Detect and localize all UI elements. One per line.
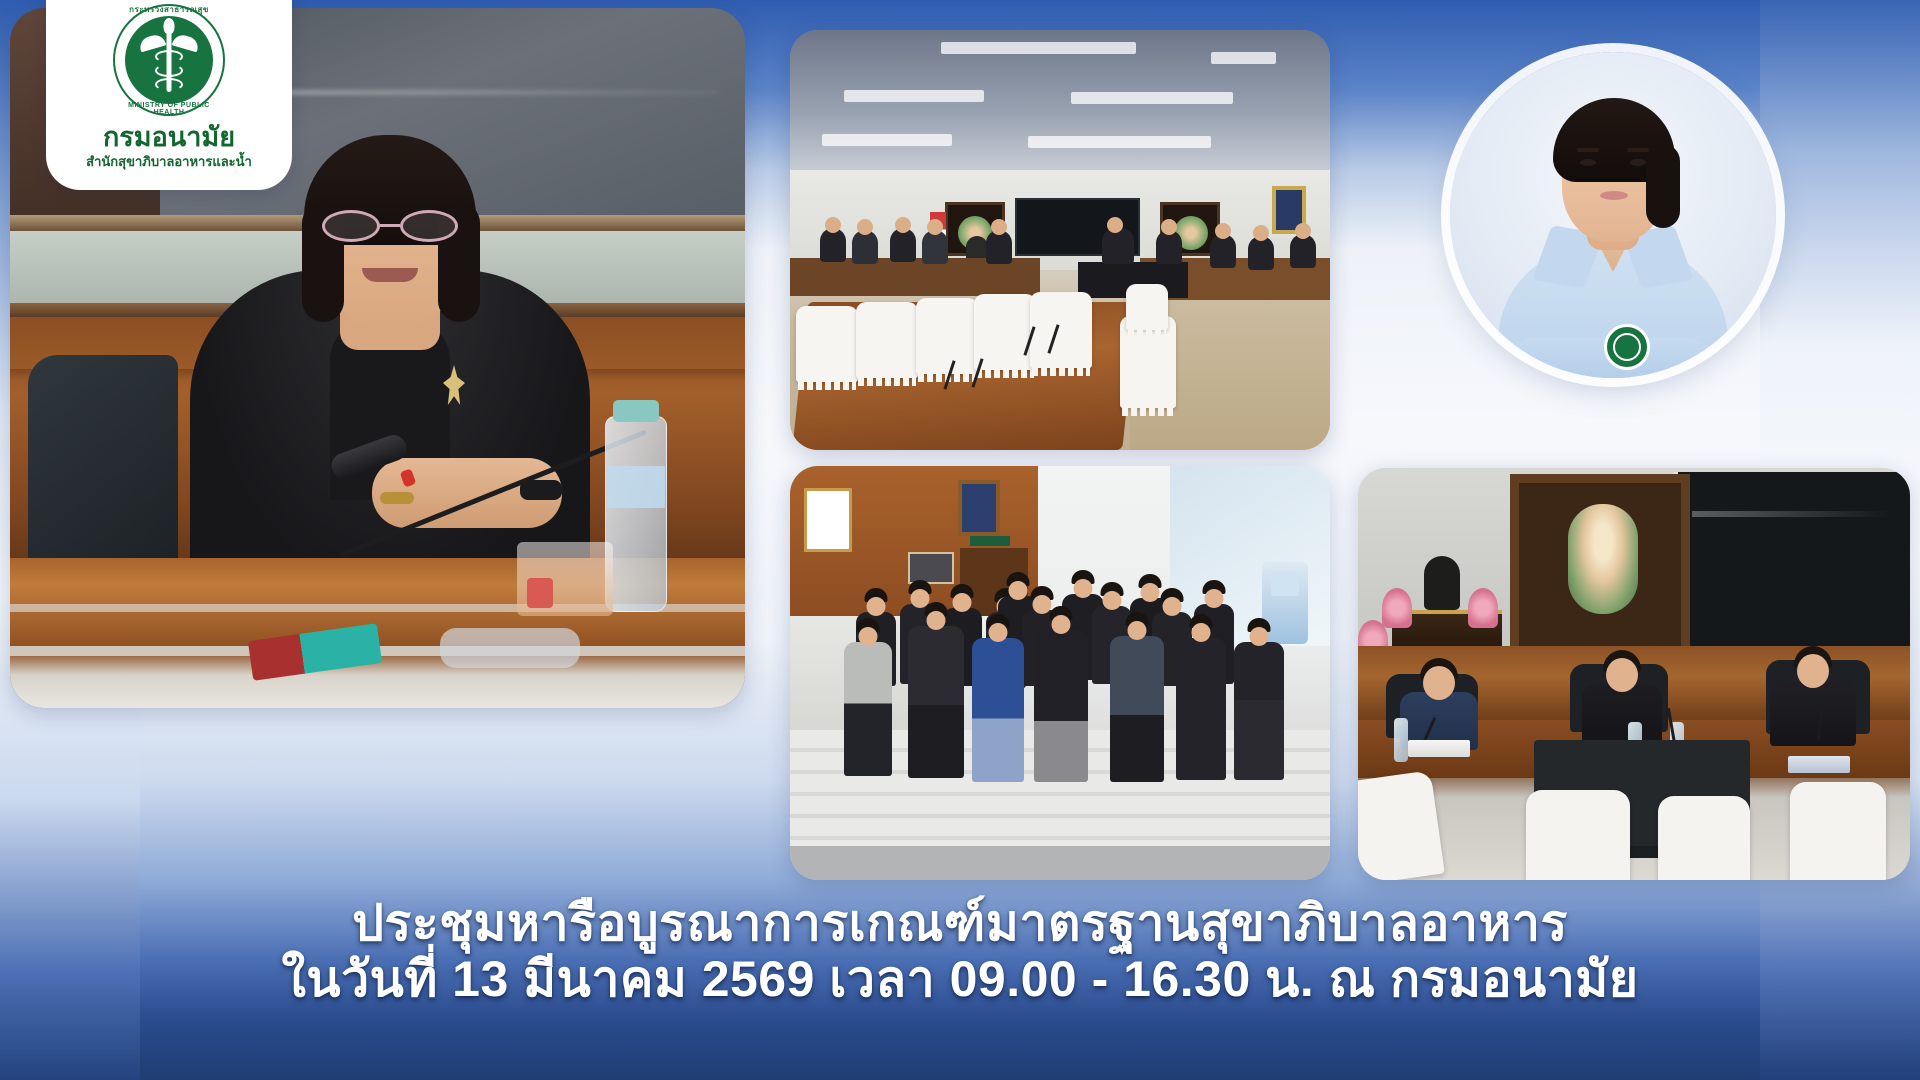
eyebrow-left	[1577, 148, 1599, 152]
wing-right-icon	[172, 33, 201, 53]
officer-circle-portrait	[1450, 52, 1776, 378]
fruit-container	[517, 542, 613, 616]
group-member	[972, 638, 1024, 782]
water-bottle	[605, 416, 667, 612]
royal-portrait	[958, 480, 1000, 536]
lobby-floor	[790, 846, 1330, 880]
moph-seal-icon: กระทรวงสาธารณสุข MINISTRY OF PUBLIC HEAL…	[113, 4, 225, 116]
covered-chair	[1526, 790, 1630, 880]
ceiling	[790, 30, 1330, 170]
attendee	[1210, 234, 1236, 268]
name-card	[1408, 740, 1470, 757]
attendee	[890, 228, 916, 262]
desk-nameplate	[440, 628, 580, 668]
seal-inner-disc	[125, 16, 213, 104]
attendee	[922, 230, 948, 264]
covered-chair	[916, 298, 978, 374]
wristwatch	[520, 480, 562, 500]
office-chair	[28, 355, 178, 590]
water-bottle	[1394, 718, 1408, 762]
hair-side	[1646, 144, 1680, 228]
group-member	[844, 642, 892, 776]
group-member	[908, 626, 964, 778]
buddha-statue	[1424, 556, 1460, 610]
poster-caption: ประชุมหารือบูรณาการเกณฑ์มาตรฐานสุขาภิบาล…	[0, 895, 1920, 1007]
caption-line-2: ในวันที่ 13 มีนาคม 2569 เวลา 09.00 - 16.…	[0, 951, 1920, 1007]
large-tv-monitor	[1674, 472, 1910, 650]
group-member	[1034, 630, 1088, 782]
photo-executive-panel	[1358, 468, 1910, 880]
serpent-coil-icon	[155, 50, 183, 63]
serpent-coil-icon	[155, 78, 183, 91]
bottle-cap	[613, 400, 659, 422]
group-member	[1110, 636, 1164, 782]
name-card	[1788, 756, 1850, 773]
seal-bottom-text: MINISTRY OF PUBLIC HEALTH	[113, 102, 225, 116]
attendee	[1290, 234, 1316, 268]
department-logo-badge: กระทรวงสาธารณสุข MINISTRY OF PUBLIC HEAL…	[46, 0, 292, 190]
bureau-name: สำนักสุขาภิบาลอาหารและน้ำ	[86, 155, 252, 168]
covered-chair	[1358, 770, 1445, 880]
mouth	[362, 268, 418, 282]
lips	[1600, 191, 1628, 200]
attendee	[986, 230, 1012, 264]
photo-panel-scene	[1358, 468, 1910, 880]
caption-line-1: ประชุมหารือบูรณาการเกณฑ์มาตรฐานสุขาภิบาล…	[0, 895, 1920, 951]
moph-chest-badge-icon	[1604, 324, 1650, 370]
photo-group-scene	[790, 466, 1330, 880]
speaker-figure	[190, 140, 590, 600]
bottle-label	[607, 466, 665, 508]
caduceus-icon	[143, 24, 195, 96]
photo-group-portrait	[790, 466, 1330, 880]
seal-top-text: กระทรวงสาธารณสุข	[113, 3, 225, 16]
flower-bouquet	[1568, 504, 1638, 614]
photo-conference-room	[790, 30, 1330, 450]
covered-chair	[1030, 292, 1092, 368]
wrist-bracelet	[380, 492, 414, 504]
flower-vase	[1382, 588, 1412, 628]
covered-chair	[1790, 782, 1886, 880]
covered-chair	[1658, 796, 1750, 880]
attendee	[1248, 236, 1274, 270]
attendee	[820, 228, 846, 262]
attendee	[1156, 230, 1182, 264]
flower-vase	[1468, 588, 1498, 628]
chairperson	[1102, 228, 1134, 264]
attendee	[852, 230, 878, 264]
eyeglasses	[322, 210, 458, 244]
covered-chair	[796, 306, 858, 382]
covered-chair	[856, 302, 918, 378]
covered-chair	[1126, 284, 1168, 330]
wall-map	[908, 552, 954, 584]
framed-notice	[804, 488, 852, 552]
group-member	[1176, 638, 1226, 780]
photo-room-scene	[790, 30, 1330, 450]
department-name: กรมอนามัย	[103, 124, 235, 151]
group-member	[1234, 642, 1284, 780]
wing-left-icon	[138, 33, 167, 53]
panelist-right	[1770, 680, 1856, 746]
panelist-center	[1582, 684, 1662, 746]
green-plaque	[970, 536, 1010, 546]
eye-left	[1580, 159, 1596, 166]
serpent-coil-icon	[155, 64, 183, 77]
eyebrow-right	[1627, 148, 1649, 152]
eye-right	[1630, 159, 1646, 166]
